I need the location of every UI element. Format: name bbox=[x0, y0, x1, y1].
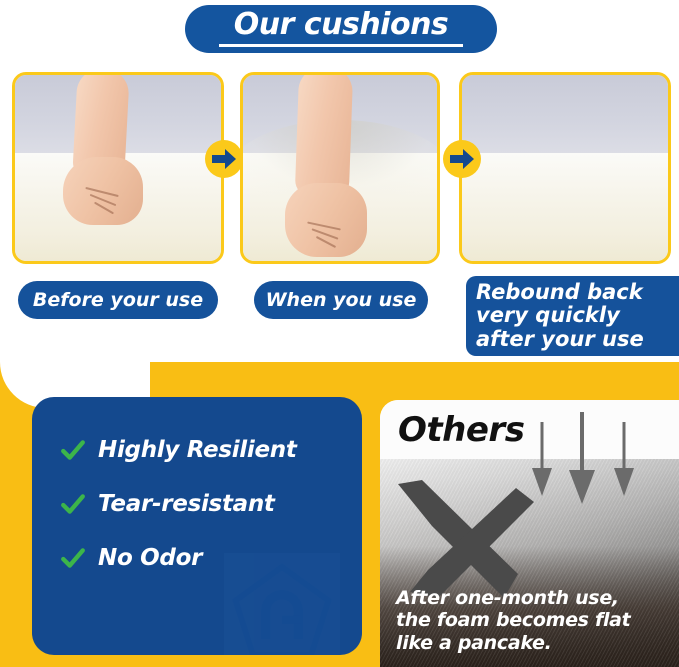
step-caption-line: Rebound back bbox=[476, 281, 643, 305]
photo-wall-background bbox=[462, 75, 668, 157]
features-panel: Highly Resilient Tear-resistant No Odor bbox=[32, 397, 362, 655]
feature-label: No Odor bbox=[98, 545, 202, 571]
check-icon bbox=[60, 545, 86, 571]
step-caption-when-using: When you use bbox=[254, 281, 428, 319]
arrow-right-icon bbox=[443, 140, 481, 178]
others-caption-line: the foam becomes flat bbox=[396, 609, 630, 632]
page-title: Our cushions bbox=[234, 10, 449, 40]
step-caption-text: When you use bbox=[266, 289, 417, 311]
step-caption-text: Before your use bbox=[33, 289, 203, 311]
others-caption-line: like a pancake. bbox=[396, 632, 630, 655]
step-caption-line: very quickly bbox=[476, 304, 620, 328]
feature-item: No Odor bbox=[60, 545, 352, 571]
others-caption: After one-month use, the foam becomes fl… bbox=[396, 587, 630, 655]
arrow-down-icon bbox=[520, 408, 650, 518]
arrow-right-icon bbox=[205, 140, 243, 178]
step-image-when-using bbox=[240, 72, 440, 264]
check-icon bbox=[60, 491, 86, 517]
step-image-before bbox=[12, 72, 224, 264]
check-icon bbox=[60, 437, 86, 463]
step-image-rebounded bbox=[459, 72, 671, 264]
foam-block bbox=[462, 153, 668, 261]
fist-shape bbox=[285, 183, 367, 257]
step-caption-rebound: Rebound back very quickly after your use bbox=[466, 276, 679, 356]
others-title: Others bbox=[398, 410, 524, 450]
others-caption-line: After one-month use, bbox=[396, 587, 630, 610]
feature-item: Tear-resistant bbox=[60, 491, 352, 517]
others-comparison-panel: Others After one-month use, the foam bec… bbox=[380, 400, 679, 667]
title-underline bbox=[219, 44, 463, 47]
step-caption-line: after your use bbox=[476, 328, 644, 352]
feature-label: Tear-resistant bbox=[98, 491, 275, 517]
step-caption-before: Before your use bbox=[18, 281, 218, 319]
feature-label: Highly Resilient bbox=[98, 437, 297, 463]
feature-item: Highly Resilient bbox=[60, 437, 352, 463]
forearm-shape bbox=[295, 72, 354, 198]
page-title-banner: Our cushions bbox=[185, 5, 497, 53]
infographic-page: Our cushions bbox=[0, 0, 679, 667]
